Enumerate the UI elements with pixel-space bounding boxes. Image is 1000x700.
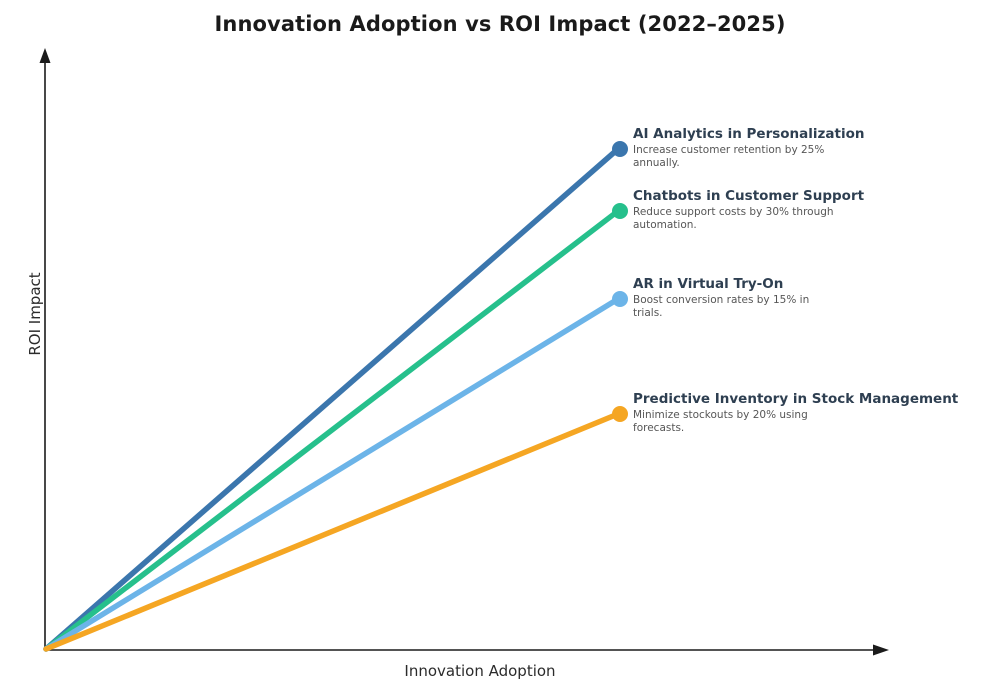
series-annotation-title: AI Analytics in Personalization (633, 127, 864, 143)
y-axis-label: ROI Impact (26, 254, 44, 374)
series-annotation-description: Increase customer retention by 25% annua… (633, 144, 838, 171)
y-axis-arrow-icon (40, 48, 51, 63)
plot-area (0, 0, 1000, 700)
x-axis-arrow-icon (873, 645, 889, 656)
series-line-chatbots (46, 211, 618, 649)
series-annotation-title: AR in Virtual Try-On (633, 277, 838, 293)
series-annotation-description: Reduce support costs by 30% through auto… (633, 206, 838, 233)
series-annotation-predictive-inventory: Predictive Inventory in Stock Management… (633, 392, 958, 435)
series-endpoint-marker-ar-virtual-tryon[interactable] (612, 291, 628, 307)
series-annotation-title: Chatbots in Customer Support (633, 189, 864, 205)
series-line-ar-virtual-tryon (46, 299, 618, 649)
series-line-ai-analytics (46, 149, 618, 649)
series-annotation-ai-analytics: AI Analytics in Personalization Increase… (633, 127, 864, 170)
series-endpoint-marker-ai-analytics[interactable] (612, 141, 628, 157)
series-endpoint-marker-predictive-inventory[interactable] (612, 406, 628, 422)
series-annotation-ar-virtual-tryon: AR in Virtual Try-On Boost conversion ra… (633, 277, 838, 320)
series-annotation-description: Boost conversion rates by 15% in trials. (633, 294, 838, 321)
series-endpoint-marker-chatbots[interactable] (612, 203, 628, 219)
series-annotation-chatbots: Chatbots in Customer Support Reduce supp… (633, 189, 864, 232)
series-line-predictive-inventory (46, 414, 618, 649)
chart-page: Innovation Adoption vs ROI Impact (2022–… (0, 0, 1000, 700)
series-annotation-title: Predictive Inventory in Stock Management (633, 392, 958, 408)
series-annotation-description: Minimize stockouts by 20% using forecast… (633, 409, 838, 436)
x-axis-label: Innovation Adoption (330, 662, 630, 680)
